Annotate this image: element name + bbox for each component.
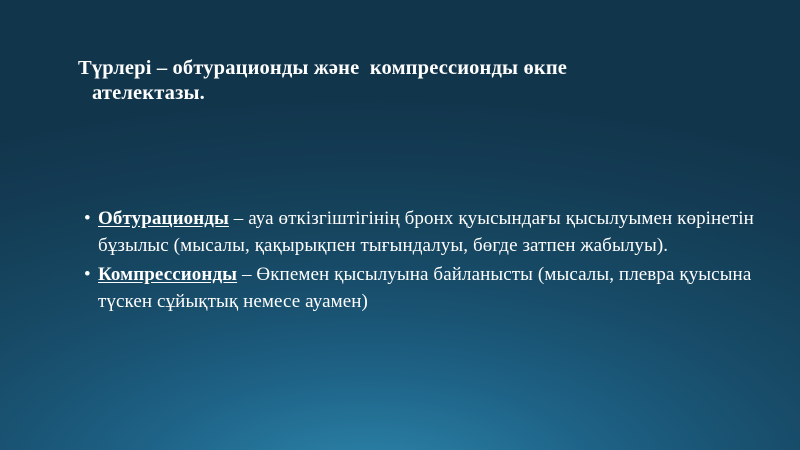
bullet-point-icon: • <box>84 262 98 289</box>
slide-title-line-1: Түрлері – обтурационды және компрессионд… <box>78 56 738 81</box>
list-item: • Обтурационды – ауа өткізгіштігінің бро… <box>84 206 756 259</box>
list-item-text: Компрессионды – Өкпемен қысылуына байлан… <box>98 262 756 315</box>
list-item-text: Обтурационды – ауа өткізгіштігінің бронх… <box>98 206 756 259</box>
presentation-slide: Түрлері – обтурационды және компрессионд… <box>0 0 800 450</box>
slide-body: • Обтурационды – ауа өткізгіштігінің бро… <box>84 206 756 315</box>
bullet-point-icon: • <box>84 206 98 233</box>
list-item: • Компрессионды – Өкпемен қысылуына байл… <box>84 262 756 315</box>
slide-title-line-2: ателектазы. <box>78 81 738 106</box>
list-item-term: Обтурационды <box>98 208 229 229</box>
list-item-term: Компрессионды <box>98 264 237 285</box>
slide-title: Түрлері – обтурационды және компрессионд… <box>78 56 738 106</box>
slide-content: Түрлері – обтурационды және компрессионд… <box>0 0 800 450</box>
